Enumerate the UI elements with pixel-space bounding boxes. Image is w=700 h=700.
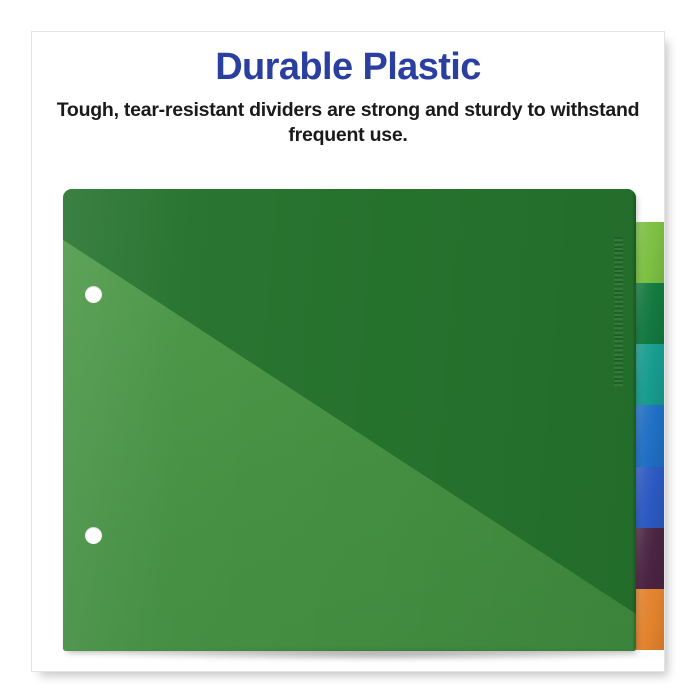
green-divider-sheet [63,189,636,651]
punch-hole-top [85,286,102,303]
product-drop-shadow [97,649,665,661]
page-title: Durable Plastic [32,46,664,89]
sheet-right-seam [632,189,636,651]
page-subtitle: Tough, tear-resistant dividers are stron… [32,98,664,149]
marketing-text-block: Durable Plastic Tough, tear-resistant di… [32,46,664,148]
reinforced-ribbed-strip [614,237,623,387]
product-image-stage: Durable Plastic Tough, tear-resistant di… [0,0,700,700]
divider-assembly [63,189,665,651]
punch-hole-bottom [85,527,102,544]
product-card: Durable Plastic Tough, tear-resistant di… [31,31,665,672]
